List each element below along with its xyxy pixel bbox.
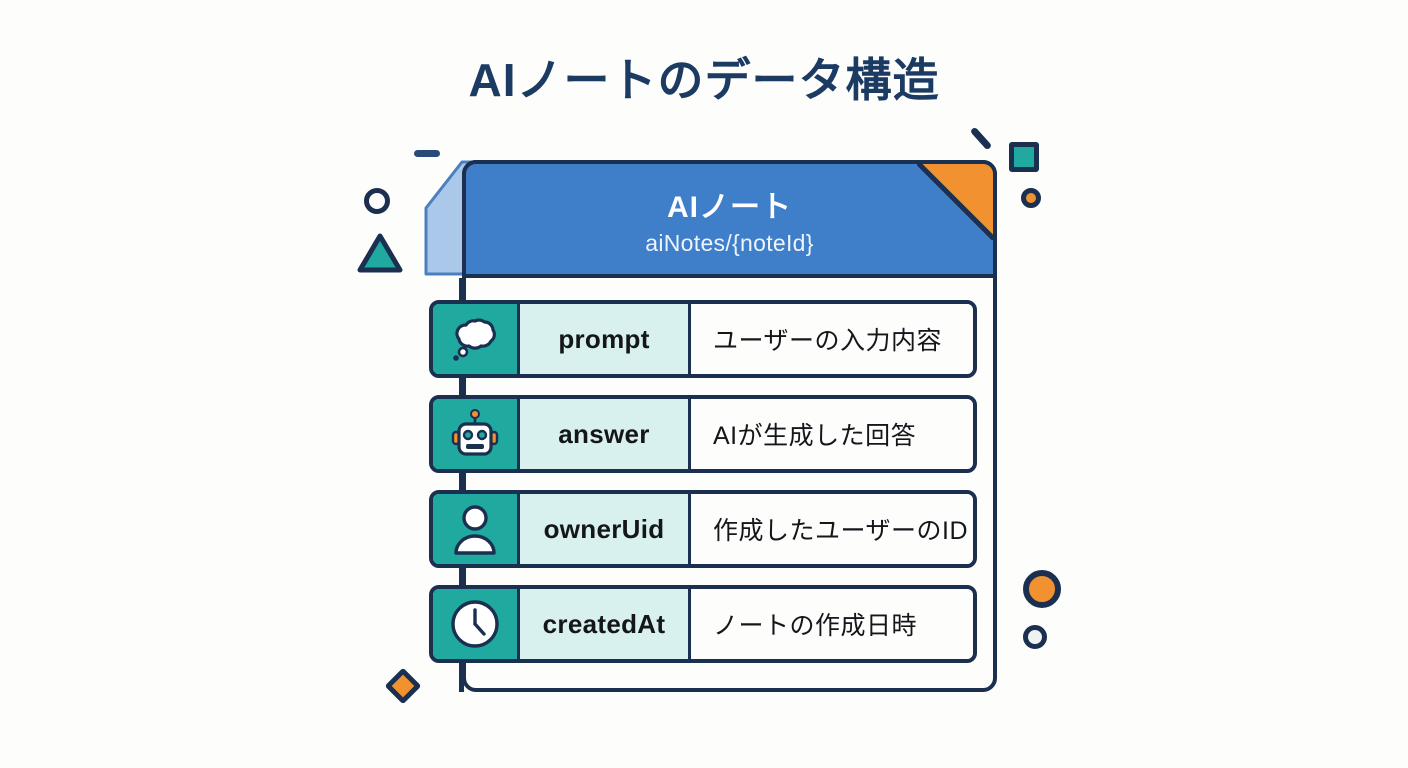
circle-orange-large-icon <box>1023 570 1061 608</box>
person-icon <box>433 494 520 564</box>
circle-white-small-icon <box>1023 625 1047 649</box>
field-description: 作成したユーザーのID <box>691 494 973 564</box>
robot-icon <box>433 399 520 469</box>
circle-outline-navy-icon <box>364 188 390 214</box>
field-description: AIが生成した回答 <box>691 399 973 469</box>
header-text-block: AIノート aiNotes/{noteId} <box>466 164 993 274</box>
folded-corner-icon <box>917 162 995 240</box>
table-row[interactable]: answer AIが生成した回答 <box>429 395 977 473</box>
field-description: ユーザーの入力内容 <box>691 304 973 374</box>
field-row-list: prompt ユーザーの入力内容 answer AIが生成した回答 <box>429 300 977 680</box>
page-title: AIノートのデータ構造 <box>0 55 1408 106</box>
table-row[interactable]: prompt ユーザーの入力内容 <box>429 300 977 378</box>
dot-orange-small-icon <box>1021 188 1041 208</box>
field-name: ownerUid <box>520 494 691 564</box>
card-title: AIノート <box>667 182 792 226</box>
diagram-canvas: AIノートのデータ構造 AIノート aiNotes/{noteId} <box>0 0 1408 768</box>
table-row[interactable]: ownerUid 作成したユーザーのID <box>429 490 977 568</box>
card-subtitle: aiNotes/{noteId} <box>645 230 813 257</box>
note-card-header: AIノート aiNotes/{noteId} <box>462 160 997 278</box>
field-description: ノートの作成日時 <box>691 589 973 659</box>
diamond-orange-icon <box>385 668 422 705</box>
triangle-teal-icon <box>357 232 403 274</box>
field-name: prompt <box>520 304 691 374</box>
square-teal-icon <box>1009 142 1039 172</box>
table-row[interactable]: createdAt ノートの作成日時 <box>429 585 977 663</box>
dash-diagonal-navy-icon <box>970 126 993 150</box>
dash-navy-icon <box>414 150 440 157</box>
clock-icon <box>433 589 520 659</box>
field-name: answer <box>520 399 691 469</box>
thought-bubble-icon <box>433 304 520 374</box>
field-name: createdAt <box>520 589 691 659</box>
